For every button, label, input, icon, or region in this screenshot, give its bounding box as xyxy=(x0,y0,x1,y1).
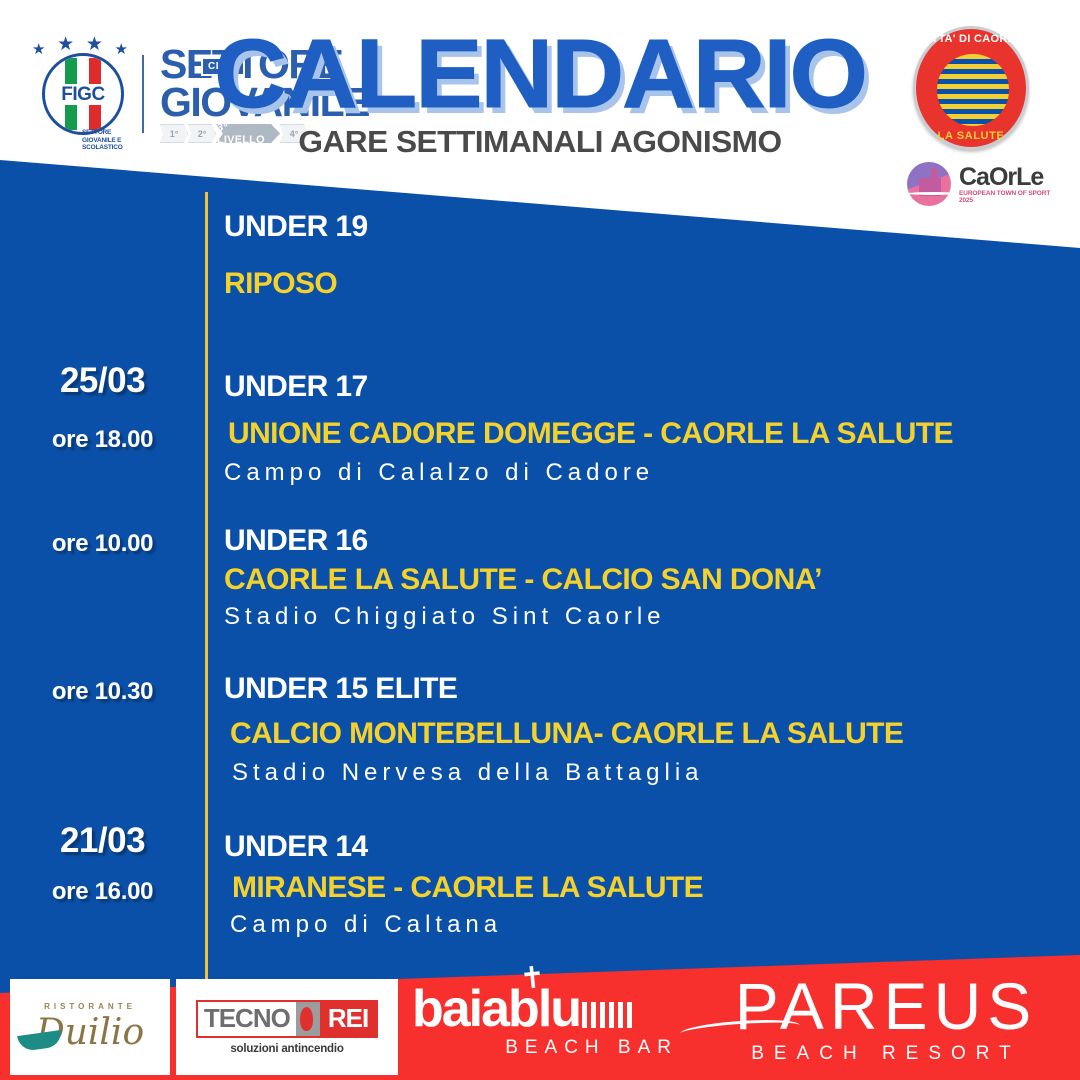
crest-top-text: CITTA' DI CAORLE xyxy=(913,33,1029,45)
row-when-under-16: ore 10.00 xyxy=(0,530,205,558)
caorle-wave-white-icon xyxy=(907,192,951,195)
baiablu-name: baiablu xyxy=(412,983,682,1035)
row-category: UNDER 16 xyxy=(224,524,1070,558)
row-venue: Campo di Caltana xyxy=(230,910,1070,940)
sponsor-bar: RISTORANTE Duilio TECNO REI soluzioni an… xyxy=(0,955,1080,1080)
row-match: CALCIO MONTEBELLUNA- CAORLE LA SALUTE xyxy=(230,716,1070,752)
row-match: CAORLE LA SALUTE - CALCIO SAN DONA’ xyxy=(224,562,1070,598)
sponsor-baiablu: ✝ baiablu BEACH BAR xyxy=(412,983,682,1059)
caorle-emblem-icon xyxy=(905,160,955,208)
row-time: ore 10.00 xyxy=(0,530,205,558)
row-what-under-19: UNDER 19 RIPOSO xyxy=(224,210,1070,302)
row-time: ore 10.30 xyxy=(0,678,205,706)
caorle-logo-text: CaOrLe EUROPEAN TOWN OF SPORT 2025 xyxy=(959,165,1060,204)
row-when-under-15: ore 10.30 xyxy=(0,678,205,706)
row-category: UNDER 19 xyxy=(224,210,1070,244)
row-date: 25/03 xyxy=(0,362,205,400)
baiablu-text: baiablu xyxy=(412,980,580,1038)
duilio-label: RISTORANTE xyxy=(10,1002,170,1011)
caorle-belltower-icon xyxy=(931,168,938,182)
pareus-sub: BEACH RESORT xyxy=(700,1043,1072,1065)
caorle-circle-icon xyxy=(907,162,951,206)
row-when-under-14: 21/03 ore 16.00 xyxy=(0,822,205,906)
row-time: ore 18.00 xyxy=(0,426,205,454)
poster-header: ★★★★ FIGC SETTORE GIOVANILE E SCOLASTICO… xyxy=(0,0,1080,215)
row-category: UNDER 15 ELITE xyxy=(224,672,1070,706)
calendar-poster: ★★★★ FIGC SETTORE GIOVANILE E SCOLASTICO… xyxy=(0,0,1080,1080)
tecnorei-tagline: soluzioni antincendio xyxy=(230,1043,343,1055)
baiablu-bars-icon xyxy=(582,1002,634,1028)
crest-bottom-text: LA SALUTE xyxy=(913,130,1029,142)
row-venue: Campo di Calalzo di Cadore xyxy=(224,458,1070,488)
caorle-town-of-sport-logo: CaOrLe EUROPEAN TOWN OF SPORT 2025 xyxy=(905,158,1060,210)
sponsor-pareus: PAREUS BEACH RESORT xyxy=(700,973,1072,1065)
row-what-under-16: UNDER 16 CAORLE LA SALUTE - CALCIO SAN D… xyxy=(224,524,1070,632)
caorle-logo-name: CaOrLe xyxy=(959,165,1060,189)
row-date: 21/03 xyxy=(0,822,205,860)
figc-wordmark: FIGC xyxy=(58,84,107,105)
row-venue: Stadio Chiggiato Sint Caorle xyxy=(224,602,1070,632)
row-what-under-15: UNDER 15 ELITE CALCIO MONTEBELLUNA- CAOR… xyxy=(224,672,1070,788)
tecnorei-logo: TECNO REI soluzioni antincendio xyxy=(196,1000,378,1055)
sponsor-ristorante-duilio: RISTORANTE Duilio xyxy=(10,979,170,1075)
crest-waves-icon xyxy=(935,52,1011,128)
caorle-wave-pink-icon xyxy=(907,198,951,201)
duilio-logo: RISTORANTE Duilio xyxy=(10,1002,170,1053)
row-match: RIPOSO xyxy=(224,266,1070,302)
caorle-logo-tagline: EUROPEAN TOWN OF SPORT 2025 xyxy=(959,190,1060,204)
tecnorei-mark: TECNO REI xyxy=(196,1000,378,1038)
row-venue: Stadio Nervesa della Battaglia xyxy=(232,758,1070,788)
tecno-word: TECNO xyxy=(198,1002,296,1036)
butterfly-icon: ✝ xyxy=(518,960,547,997)
row-category: UNDER 17 xyxy=(224,370,1070,404)
row-match: MIRANESE - CAORLE LA SALUTE xyxy=(232,870,1070,906)
row-category: UNDER 14 xyxy=(224,830,1070,864)
row-match: UNIONE CADORE DOMEGGE - CAORLE LA SALUTE xyxy=(228,416,1070,452)
flame-icon xyxy=(296,1002,320,1036)
citta-di-caorle-crest-icon: CITTA' DI CAORLE LA SALUTE xyxy=(913,26,1029,150)
row-time: ore 16.00 xyxy=(0,878,205,906)
rei-word: REI xyxy=(320,1002,376,1036)
baiablu-sub: BEACH BAR xyxy=(412,1037,682,1059)
row-when-under-17: 25/03 ore 18.00 xyxy=(0,362,205,454)
sponsor-tecno-rei: TECNO REI soluzioni antincendio xyxy=(176,979,398,1075)
row-what-under-17: UNDER 17 UNIONE CADORE DOMEGGE - CAORLE … xyxy=(224,370,1070,488)
row-what-under-14: UNDER 14 MIRANESE - CAORLE LA SALUTE Cam… xyxy=(224,830,1070,940)
